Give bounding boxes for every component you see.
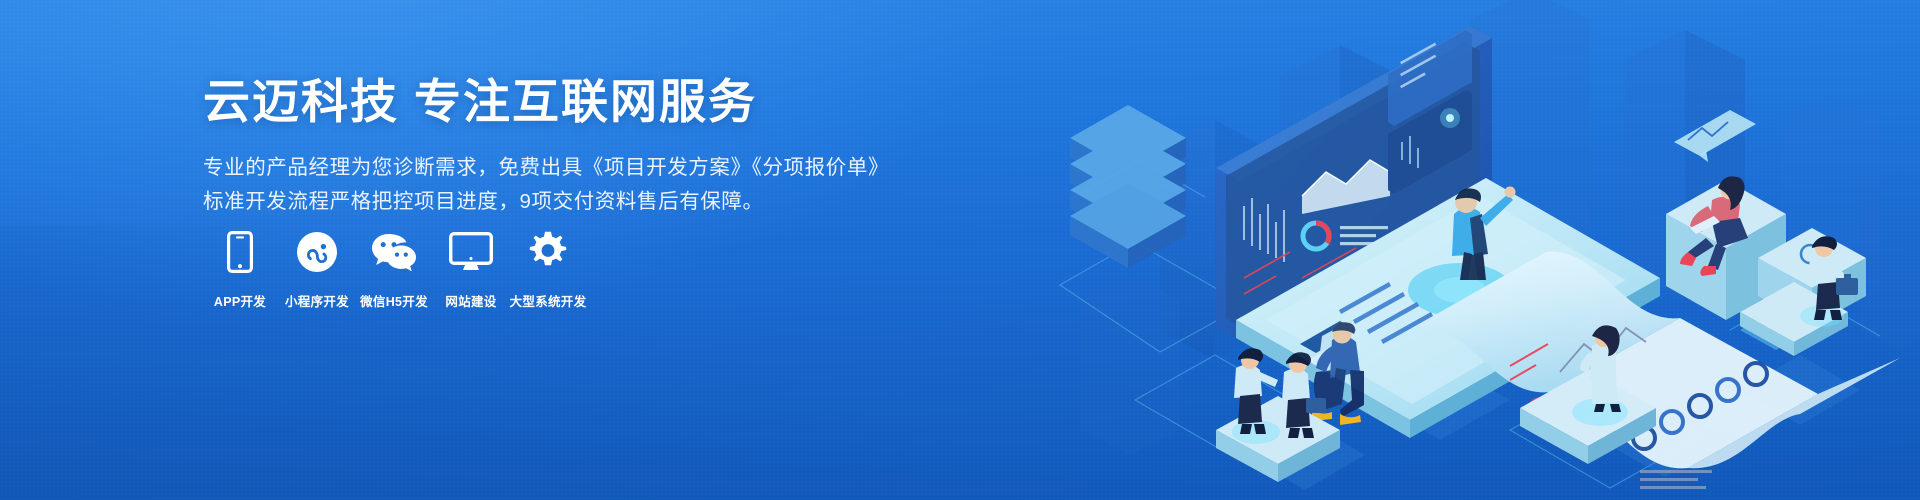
desktop-monitor-icon	[449, 228, 493, 276]
service-item-website[interactable]: 网站建设	[434, 228, 508, 310]
service-item-wechat[interactable]: 微信H5开发	[357, 228, 431, 310]
isometric-illustration	[1040, 0, 1920, 500]
hero-subtitle: 专业的产品经理为您诊断需求，免费出具《项目开发方案》《分项报价单》 标准开发流程…	[203, 151, 903, 219]
subtitle-line-2: 标准开发流程严格把控项目进度，9项交付资料售后有保障。	[203, 185, 903, 219]
service-list: APP开发 小程序开发	[203, 228, 588, 310]
server-stack	[1070, 105, 1186, 268]
service-item-mini-program[interactable]: 小程序开发	[280, 228, 354, 310]
service-item-app[interactable]: APP开发	[203, 228, 277, 310]
mobile-phone-icon	[227, 228, 253, 276]
service-label-large-system: 大型系统开发	[510, 291, 587, 310]
service-item-large-system[interactable]: 大型系统开发	[511, 228, 585, 310]
service-label-app: APP开发	[214, 291, 266, 310]
service-label-mini-program: 小程序开发	[285, 291, 349, 310]
subtitle-line-1: 专业的产品经理为您诊断需求，免费出具《项目开发方案》《分项报价单》	[203, 151, 903, 185]
service-label-wechat: 微信H5开发	[360, 291, 428, 310]
wechat-icon	[371, 228, 417, 276]
mini-program-icon	[296, 228, 338, 276]
gear-icon	[527, 228, 569, 276]
hero-copy: 云迈科技 专注互联网服务 专业的产品经理为您诊断需求，免费出具《项目开发方案》《…	[203, 74, 903, 219]
service-label-website: 网站建设	[445, 291, 496, 310]
hero-banner: 云迈科技 专注互联网服务 专业的产品经理为您诊断需求，免费出具《项目开发方案》《…	[0, 0, 1920, 500]
page-title: 云迈科技 专注互联网服务	[203, 74, 903, 129]
